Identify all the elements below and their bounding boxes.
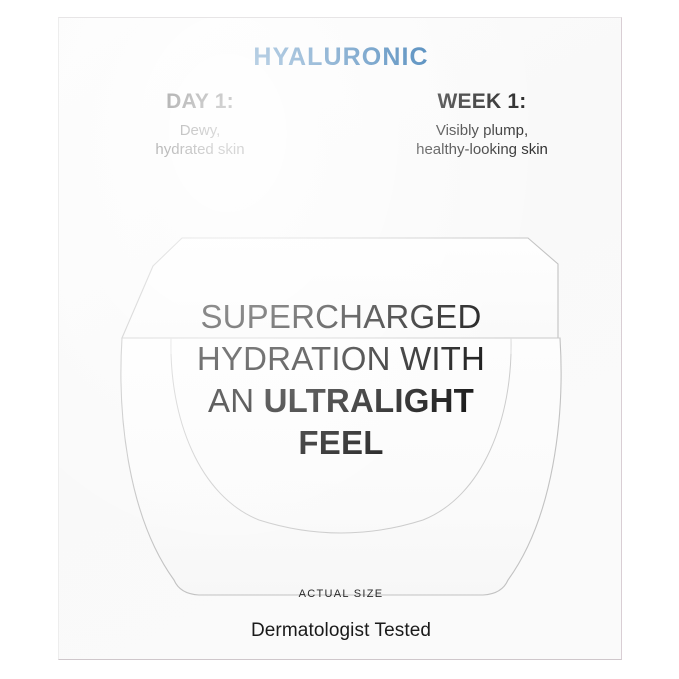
product-panel: HYALURONIC DAY 1: Dewy, hydrated skin WE… [58, 17, 622, 660]
headline-line-1: SUPERCHARGED [59, 296, 623, 338]
actual-size-label: ACTUAL SIZE [59, 588, 623, 600]
benefit-body-week-1: Visibly plump, healthy-looking skin [341, 121, 623, 159]
headline-line-3-bold: ULTRALIGHT [264, 382, 474, 419]
brand-title: HYALURONIC [59, 43, 623, 72]
headline-line-3-light: AN [208, 382, 264, 419]
benefit-week-1-line-2: healthy-looking skin [341, 140, 623, 159]
benefit-day-1-line-1: Dewy, [59, 121, 341, 140]
benefit-week-1-line-1: Visibly plump, [341, 121, 623, 140]
headline-line-2: HYDRATION WITH [59, 338, 623, 380]
headline-line-4: FEEL [59, 422, 623, 464]
panel-content: HYALURONIC DAY 1: Dewy, hydrated skin WE… [59, 18, 623, 661]
dermatologist-tested-label: Dermatologist Tested [59, 620, 623, 642]
headline-line-3: AN ULTRALIGHT [59, 380, 623, 422]
benefit-body-day-1: Dewy, hydrated skin [59, 121, 341, 159]
benefit-heading-day-1: DAY 1: [59, 90, 341, 114]
benefit-day-1-line-2: hydrated skin [59, 140, 341, 159]
screenshot-stage: HYALURONIC DAY 1: Dewy, hydrated skin WE… [0, 0, 679, 679]
benefit-column-day-1: DAY 1: Dewy, hydrated skin [59, 90, 341, 159]
benefits-row: DAY 1: Dewy, hydrated skin WEEK 1: Visib… [59, 90, 623, 159]
benefit-heading-week-1: WEEK 1: [341, 90, 623, 114]
benefit-column-week-1: WEEK 1: Visibly plump, healthy-looking s… [341, 90, 623, 159]
headline-block: SUPERCHARGED HYDRATION WITH AN ULTRALIGH… [59, 296, 623, 464]
